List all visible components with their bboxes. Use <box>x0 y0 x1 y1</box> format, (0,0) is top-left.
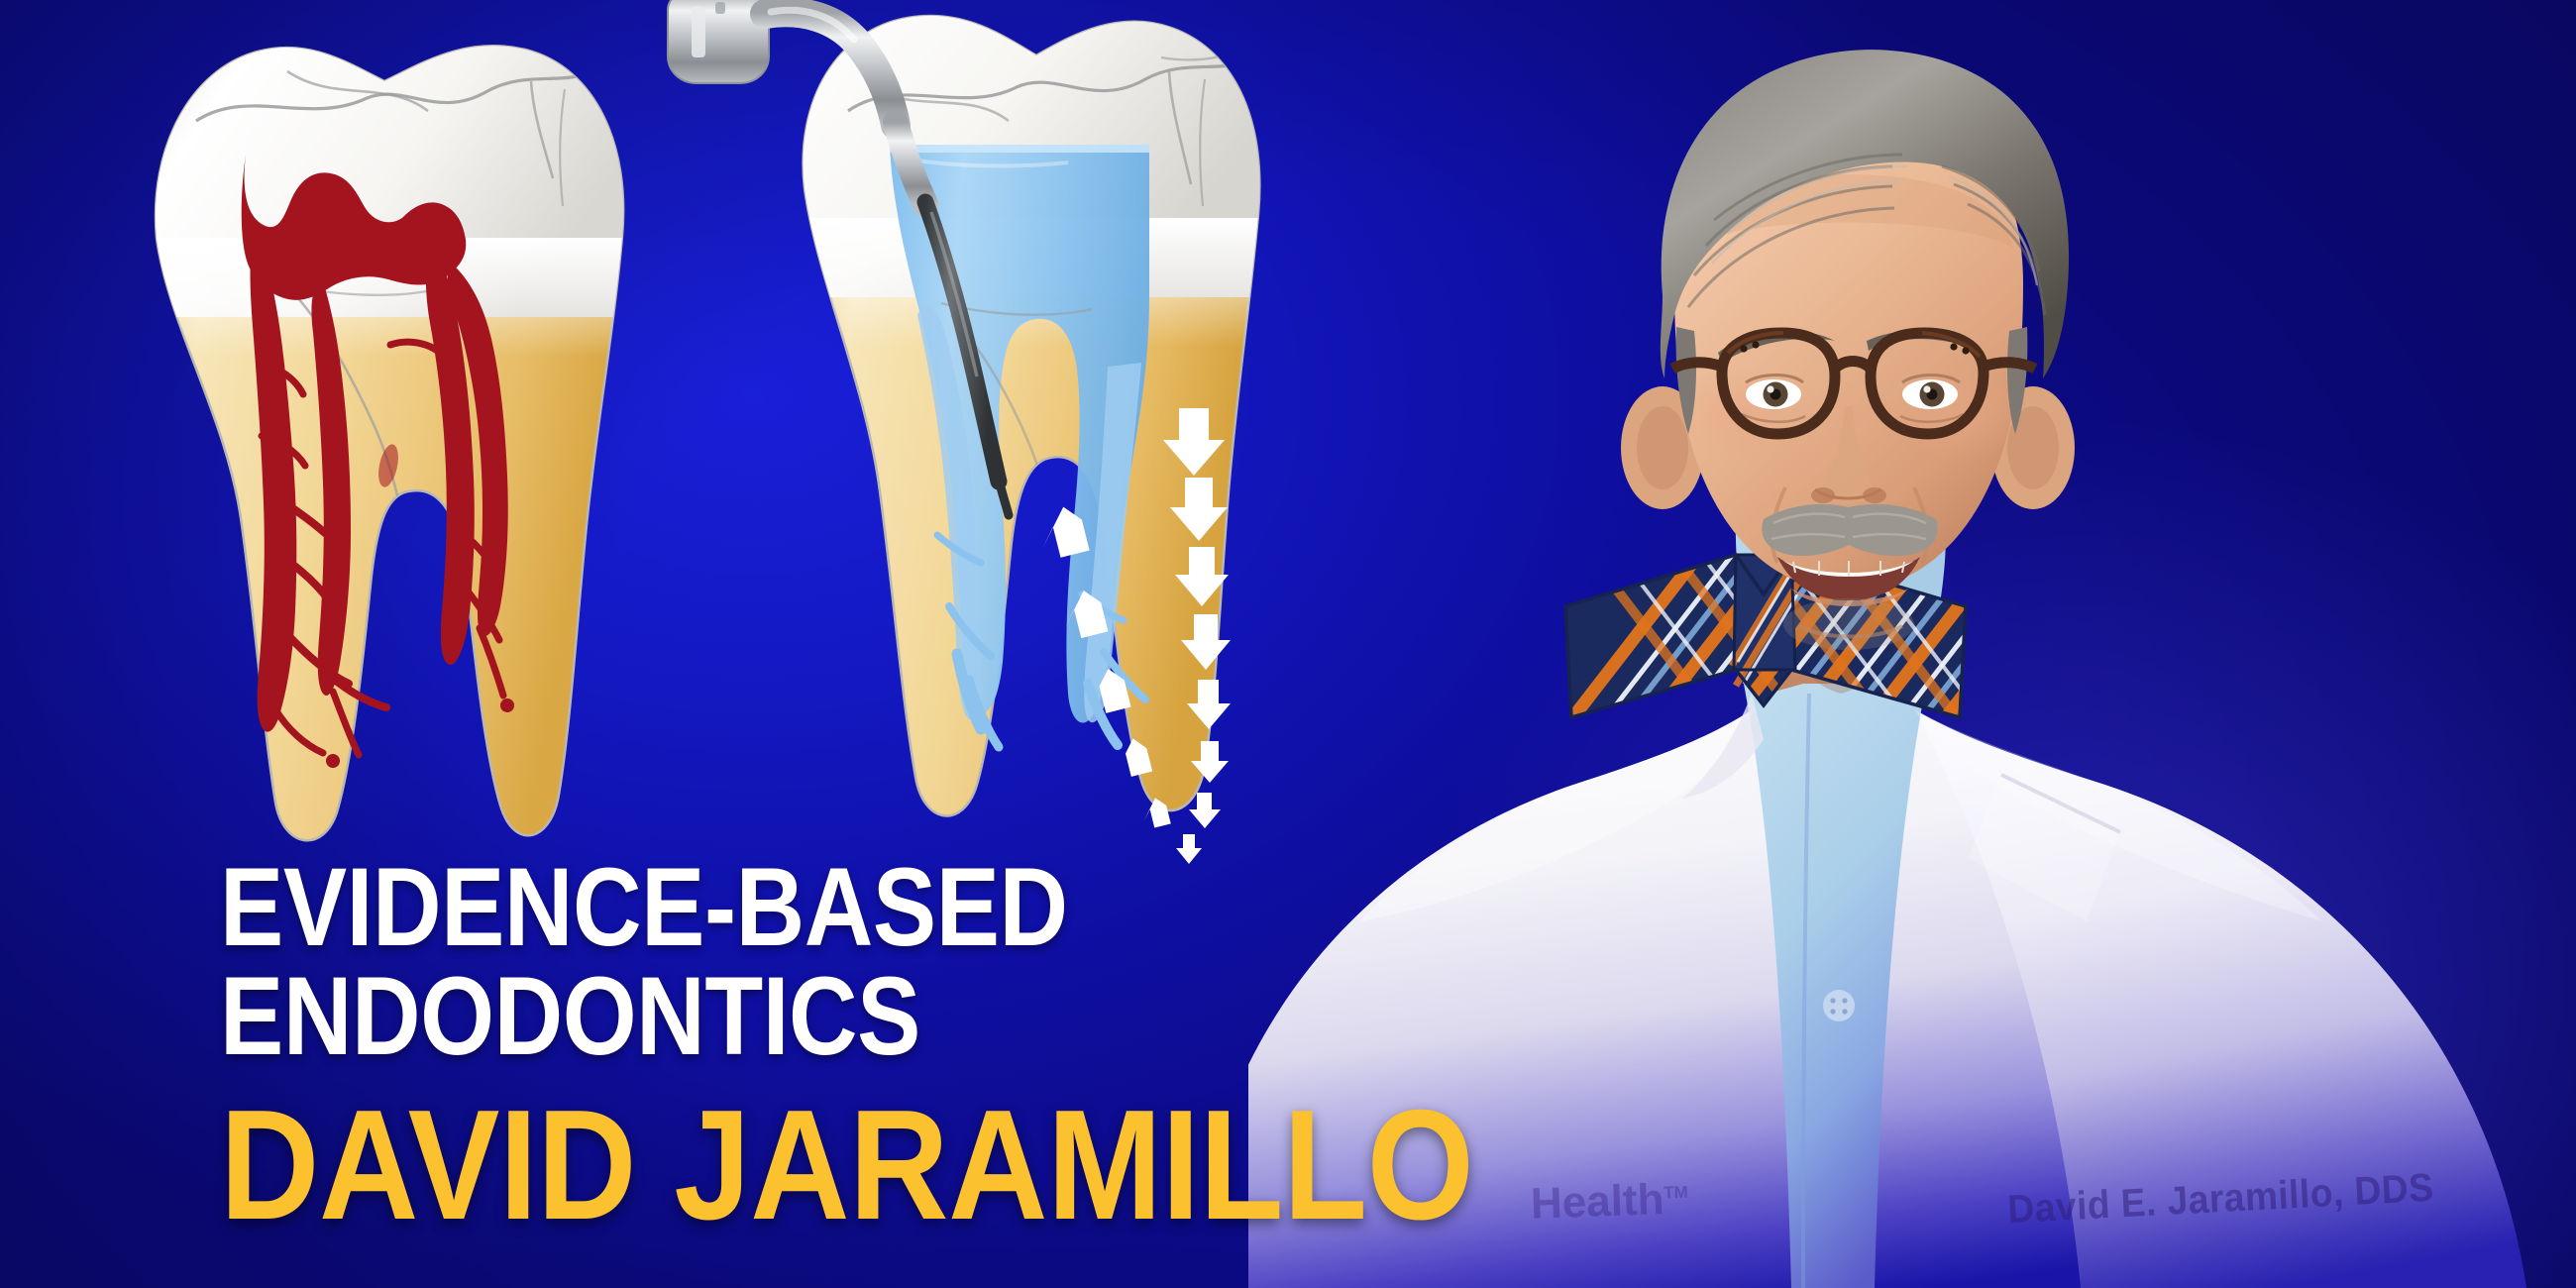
headline-block: EVIDENCE-BASED ENDODONTICS DAVID JARAMIL… <box>220 854 1645 1241</box>
headline-line-2: ENDODONTICS <box>220 963 1446 1070</box>
irrigated-tooth-illustration <box>654 0 1268 872</box>
headline-line-1: EVIDENCE-BASED <box>220 854 1446 961</box>
event-banner: HealthTM David E. Jaramillo, DDS EVIDENC… <box>0 0 2576 1288</box>
infected-tooth-illustration <box>139 30 634 852</box>
speaker-name: DAVID JARAMILLO <box>220 1091 1473 1241</box>
